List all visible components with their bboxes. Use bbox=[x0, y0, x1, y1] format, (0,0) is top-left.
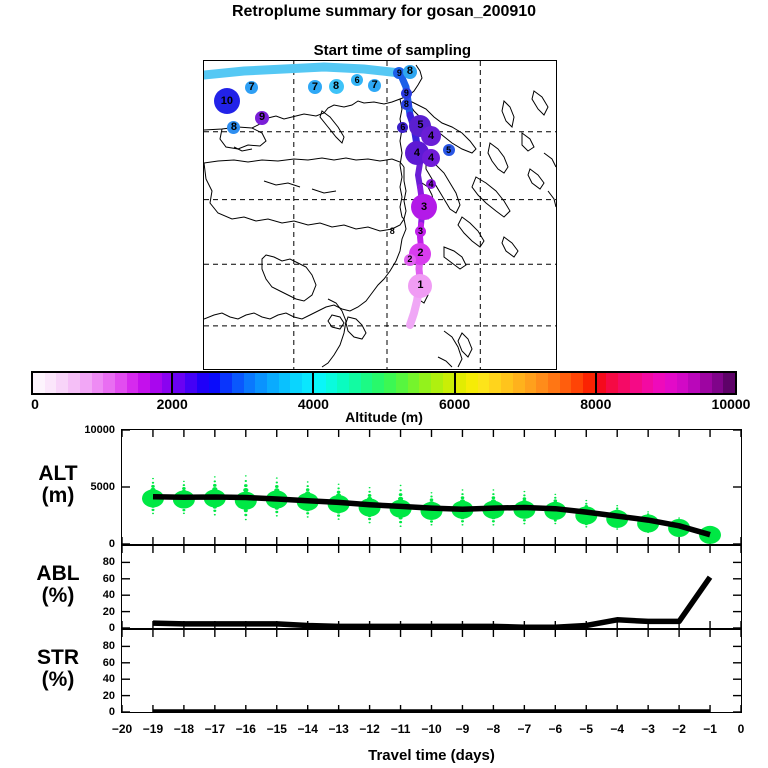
scatter-point bbox=[430, 517, 434, 520]
colorbar-swatch bbox=[232, 373, 244, 393]
colorbar-swatch bbox=[361, 373, 373, 393]
scatter-point bbox=[585, 505, 589, 508]
colorbar-swatch bbox=[560, 373, 572, 393]
scatter-point bbox=[212, 500, 218, 505]
scatter-point bbox=[337, 491, 341, 494]
x-tick-label: 0 bbox=[738, 722, 745, 736]
x-tick-label: −14 bbox=[298, 722, 318, 736]
colorbar-swatch bbox=[571, 373, 583, 393]
y-tick-label: 20 bbox=[69, 690, 115, 702]
scatter-point bbox=[151, 505, 155, 508]
scatter-point bbox=[214, 514, 216, 516]
colorbar-swatch bbox=[712, 373, 724, 393]
map-day-marker: 5 bbox=[443, 144, 455, 156]
scatter-point bbox=[151, 485, 155, 488]
scatter-point bbox=[368, 494, 372, 497]
x-axis-title: Travel time (days) bbox=[121, 747, 742, 764]
scatter-point bbox=[398, 497, 403, 501]
x-tick-label: −7 bbox=[518, 722, 532, 736]
colorbar-swatch bbox=[173, 373, 185, 393]
scatter-point bbox=[337, 514, 340, 516]
scatter-point bbox=[213, 484, 217, 487]
colorbar-swatch bbox=[723, 373, 735, 393]
colorbar-swatch bbox=[513, 373, 525, 393]
colorbar-swatch bbox=[384, 373, 396, 393]
colorbar-swatch bbox=[349, 373, 361, 393]
panel-str[interactable] bbox=[121, 629, 742, 713]
colorbar-swatch bbox=[431, 373, 443, 393]
scatter-point bbox=[553, 516, 557, 519]
scatter-point bbox=[307, 481, 309, 482]
scatter-point bbox=[274, 488, 279, 492]
colorbar-axis-label: Altitude (m) bbox=[0, 409, 768, 425]
scatter-point bbox=[305, 503, 311, 508]
scatter-point bbox=[305, 491, 310, 495]
page-title: Retroplume summary for gosan_200910 bbox=[0, 2, 768, 22]
scatter-point bbox=[368, 518, 371, 520]
scatter-point bbox=[152, 513, 154, 515]
x-tick-label: −3 bbox=[641, 722, 655, 736]
y-tick-label: 0 bbox=[69, 706, 115, 718]
scatter-point bbox=[492, 524, 494, 526]
colorbar-swatch bbox=[127, 373, 139, 393]
colorbar-swatch bbox=[290, 373, 302, 393]
colorbar-swatch bbox=[68, 373, 80, 393]
y-tick-label: 0 bbox=[69, 538, 115, 550]
colorbar-swatch bbox=[443, 373, 455, 393]
colorbar-swatch bbox=[255, 373, 267, 393]
scatter-point bbox=[616, 525, 619, 527]
scatter-point bbox=[181, 490, 186, 494]
scatter-point bbox=[647, 532, 649, 534]
scatter-point bbox=[460, 499, 465, 503]
map-day-marker: 8 bbox=[329, 79, 344, 94]
scatter-point bbox=[460, 511, 466, 516]
scatter-point bbox=[522, 500, 527, 504]
scatter-point bbox=[523, 523, 525, 525]
colorbar-swatch bbox=[115, 373, 127, 393]
scatter-point bbox=[492, 496, 496, 499]
x-tick-label: −18 bbox=[174, 722, 194, 736]
scatter-point bbox=[369, 487, 371, 488]
x-tick-label: −10 bbox=[421, 722, 441, 736]
y-tick-label: 80 bbox=[69, 640, 115, 652]
colorbar-swatch bbox=[489, 373, 501, 393]
map-day-marker: 10 bbox=[214, 88, 240, 114]
scatter-point bbox=[678, 517, 680, 518]
y-tick-label: 5000 bbox=[69, 481, 115, 493]
colorbar-swatch bbox=[209, 373, 221, 393]
scatter-point bbox=[553, 502, 558, 506]
str-plot-area bbox=[122, 630, 741, 712]
scatter-point bbox=[275, 507, 279, 510]
scatter-point bbox=[492, 493, 494, 495]
scatter-point bbox=[306, 488, 310, 491]
scatter-point bbox=[245, 480, 247, 482]
colorbar-swatch bbox=[314, 373, 326, 393]
scatter-point bbox=[492, 520, 495, 522]
scatter-point bbox=[336, 506, 342, 511]
colorbar-swatch bbox=[630, 373, 642, 393]
scatter-point bbox=[461, 520, 464, 522]
colorbar-swatch bbox=[653, 373, 665, 393]
scatter-point bbox=[462, 524, 464, 526]
scatter-point bbox=[554, 499, 558, 502]
colorbar-divider bbox=[595, 371, 597, 395]
scatter-point bbox=[214, 480, 216, 482]
colorbar-swatch bbox=[665, 373, 677, 393]
scatter-point bbox=[399, 516, 403, 519]
scatter-point bbox=[461, 493, 463, 495]
scatter-point bbox=[276, 477, 278, 478]
map-day-marker: 7 bbox=[245, 81, 258, 94]
scatter-point bbox=[307, 516, 309, 518]
colorbar-swatch bbox=[326, 373, 338, 393]
scatter-point bbox=[491, 516, 495, 519]
scatter-point bbox=[430, 520, 433, 522]
colorbar-swatch bbox=[548, 373, 560, 393]
scatter-point bbox=[554, 523, 556, 525]
scatter-point bbox=[647, 513, 649, 515]
y-tick-label: 60 bbox=[69, 573, 115, 585]
colorbar-swatch bbox=[267, 373, 279, 393]
scatter-point bbox=[678, 519, 680, 521]
scatter-point bbox=[709, 526, 711, 527]
scatter-point bbox=[462, 489, 464, 490]
scatter-point bbox=[399, 521, 402, 523]
scatter-point bbox=[398, 511, 404, 516]
scatter-point bbox=[709, 540, 711, 542]
scatter-point bbox=[244, 484, 248, 487]
scatter-point bbox=[337, 510, 341, 513]
scatter-point bbox=[338, 518, 340, 520]
scatter-point bbox=[616, 528, 618, 530]
scatter-point bbox=[523, 519, 526, 521]
scatter-point bbox=[181, 501, 187, 506]
colorbar-swatch bbox=[466, 373, 478, 393]
x-tick-label: −12 bbox=[359, 722, 379, 736]
colorbar-swatch bbox=[45, 373, 57, 393]
scatter-point bbox=[367, 497, 372, 501]
scatter-point bbox=[150, 500, 156, 505]
colorbar-swatch bbox=[642, 373, 654, 393]
scatter-point bbox=[461, 496, 465, 499]
colorbar-swatch bbox=[80, 373, 92, 393]
scatter-point bbox=[431, 524, 433, 526]
scatter-point bbox=[678, 535, 680, 537]
abl-plot-area bbox=[122, 546, 741, 628]
x-tick-label: −13 bbox=[328, 722, 348, 736]
scatter-point bbox=[369, 522, 371, 524]
x-tick-label: −2 bbox=[672, 722, 686, 736]
scatter-point bbox=[647, 529, 650, 531]
x-tick-label: −6 bbox=[548, 722, 562, 736]
scatter-point bbox=[275, 511, 278, 513]
colorbar-swatch bbox=[396, 373, 408, 393]
alt-plot-area bbox=[122, 430, 741, 544]
scatter-point bbox=[523, 494, 525, 496]
scatter-point bbox=[523, 497, 527, 500]
scatter-point bbox=[306, 512, 309, 514]
scatter-point bbox=[243, 488, 248, 492]
scatter-point bbox=[275, 485, 279, 488]
scatter-point bbox=[152, 478, 154, 479]
x-tick-label: −15 bbox=[267, 722, 287, 736]
trajectory-segment bbox=[204, 67, 400, 75]
map-day-marker: 8 bbox=[403, 65, 417, 79]
scatter-point bbox=[585, 526, 587, 528]
panel-alt[interactable] bbox=[121, 429, 742, 545]
scatter-point bbox=[243, 503, 249, 508]
map-day-marker: 9 bbox=[401, 88, 412, 99]
scatter-point bbox=[585, 503, 587, 505]
colorbar-swatch bbox=[103, 373, 115, 393]
colorbar-swatch bbox=[700, 373, 712, 393]
scatter-point bbox=[585, 500, 587, 501]
colorbar-swatch bbox=[606, 373, 618, 393]
colorbar-divider bbox=[312, 371, 314, 395]
scatter-point bbox=[245, 475, 247, 476]
scatter-point bbox=[367, 509, 373, 514]
colorbar-swatch bbox=[220, 373, 232, 393]
scatter-point bbox=[522, 516, 526, 519]
x-tick-label: −9 bbox=[456, 722, 470, 736]
colorbar-swatch bbox=[150, 373, 162, 393]
colorbar-swatch bbox=[583, 373, 595, 393]
scatter-point bbox=[337, 487, 339, 489]
scatter-point bbox=[430, 498, 434, 501]
map-day-marker: 2 bbox=[404, 254, 416, 266]
altitude-colorbar[interactable] bbox=[31, 371, 737, 395]
panel-abl[interactable] bbox=[121, 545, 742, 629]
scatter-point bbox=[493, 489, 495, 490]
scatter-point bbox=[338, 484, 340, 485]
colorbar-swatch bbox=[419, 373, 431, 393]
scatter-point bbox=[214, 476, 216, 477]
scatter-point bbox=[368, 491, 370, 493]
scatter-point bbox=[521, 511, 527, 516]
retroplume-map[interactable]: 10987786798986544454332218 bbox=[203, 60, 557, 370]
map-coastlines bbox=[204, 61, 556, 369]
scatter-point bbox=[276, 482, 278, 484]
colorbar-swatch bbox=[454, 373, 466, 393]
colorbar-swatch bbox=[688, 373, 700, 393]
scatter-point bbox=[616, 507, 618, 509]
scatter-point bbox=[183, 513, 185, 515]
start-time-label: Start time of sampling bbox=[314, 42, 472, 59]
scatter-point bbox=[182, 505, 186, 508]
scatter-point bbox=[212, 487, 217, 491]
y-tick-label: 80 bbox=[69, 556, 115, 568]
x-tick-label: −16 bbox=[236, 722, 256, 736]
map-day-marker: 7 bbox=[308, 80, 322, 94]
scatter-point bbox=[183, 484, 185, 486]
colorbar-swatch bbox=[677, 373, 689, 393]
scatter-point bbox=[431, 492, 433, 493]
scatter-point bbox=[213, 510, 216, 512]
scatter-point bbox=[213, 505, 217, 508]
y-tick-label: 40 bbox=[69, 673, 115, 685]
map-day-marker: 9 bbox=[255, 111, 269, 125]
colorbar-swatch bbox=[244, 373, 256, 393]
x-tick-label: −1 bbox=[703, 722, 717, 736]
scatter-point bbox=[615, 509, 619, 512]
scatter-point bbox=[709, 527, 711, 529]
scatter-point bbox=[584, 520, 588, 523]
scatter-point bbox=[150, 488, 155, 492]
scatter-point bbox=[245, 519, 247, 521]
x-tick-label: −4 bbox=[610, 722, 624, 736]
colorbar-swatch bbox=[408, 373, 420, 393]
colorbar-divider bbox=[454, 371, 456, 395]
scatter-point bbox=[647, 511, 649, 512]
scatter-point bbox=[615, 523, 619, 526]
scatter-point bbox=[276, 515, 278, 517]
colorbar-swatch bbox=[372, 373, 384, 393]
scatter-point bbox=[399, 493, 403, 496]
scatter-point bbox=[400, 525, 402, 527]
y-tick-label: 0 bbox=[69, 622, 115, 634]
scatter-point bbox=[554, 497, 556, 499]
colorbar-swatch bbox=[197, 373, 209, 393]
x-tick-label: −20 bbox=[112, 722, 132, 736]
scatter-point bbox=[307, 485, 309, 487]
colorbar-swatch bbox=[501, 373, 513, 393]
scatter-point bbox=[400, 485, 402, 486]
colorbar-divider bbox=[171, 371, 173, 395]
scatter-point bbox=[306, 508, 310, 511]
x-tick-label: −8 bbox=[487, 722, 501, 736]
scatter-point bbox=[491, 499, 496, 503]
y-tick-label: 60 bbox=[69, 657, 115, 669]
colorbar-swatch bbox=[279, 373, 291, 393]
colorbar-swatch bbox=[337, 373, 349, 393]
colorbar-swatch bbox=[56, 373, 68, 393]
scatter-point bbox=[336, 494, 341, 498]
x-tick-label: −19 bbox=[143, 722, 163, 736]
scatter-point bbox=[274, 502, 280, 507]
colorbar-gradient bbox=[31, 371, 737, 395]
scatter-point bbox=[244, 514, 247, 516]
scatter-point bbox=[678, 533, 681, 535]
x-tick-label: −17 bbox=[205, 722, 225, 736]
scatter-point bbox=[490, 511, 496, 516]
scatter-point bbox=[429, 512, 435, 517]
y-tick-label: 40 bbox=[69, 589, 115, 601]
x-tick-label: −11 bbox=[391, 722, 411, 736]
scatter-point bbox=[430, 496, 432, 498]
map-day-marker: 8 bbox=[401, 99, 412, 110]
scatter-point bbox=[461, 516, 465, 519]
colorbar-swatch bbox=[525, 373, 537, 393]
colorbar-swatch bbox=[536, 373, 548, 393]
scatter-point bbox=[152, 482, 154, 484]
x-tick-label: −5 bbox=[579, 722, 593, 736]
scatter-point bbox=[152, 509, 155, 511]
scatter-point bbox=[554, 494, 556, 495]
scatter-point bbox=[616, 505, 618, 506]
colorbar-swatch bbox=[92, 373, 104, 393]
scatter-point bbox=[524, 491, 526, 492]
scatter-point bbox=[368, 514, 372, 517]
scatter-point bbox=[244, 509, 248, 512]
scatter-point bbox=[399, 489, 401, 491]
series-line bbox=[153, 577, 710, 627]
scatter-point bbox=[182, 487, 186, 490]
scatter-point bbox=[429, 501, 434, 505]
scatter-point bbox=[585, 523, 588, 525]
colorbar-swatch bbox=[138, 373, 150, 393]
colorbar-swatch bbox=[185, 373, 197, 393]
scatter-point bbox=[182, 509, 185, 511]
map-day-marker: 4 bbox=[422, 149, 440, 167]
y-tick-label: 10000 bbox=[69, 424, 115, 436]
colorbar-swatch bbox=[478, 373, 490, 393]
scatter-point bbox=[183, 481, 185, 482]
colorbar-swatch bbox=[618, 373, 630, 393]
scatter-point bbox=[554, 519, 557, 521]
y-tick-label: 20 bbox=[69, 606, 115, 618]
colorbar-swatch bbox=[33, 373, 45, 393]
